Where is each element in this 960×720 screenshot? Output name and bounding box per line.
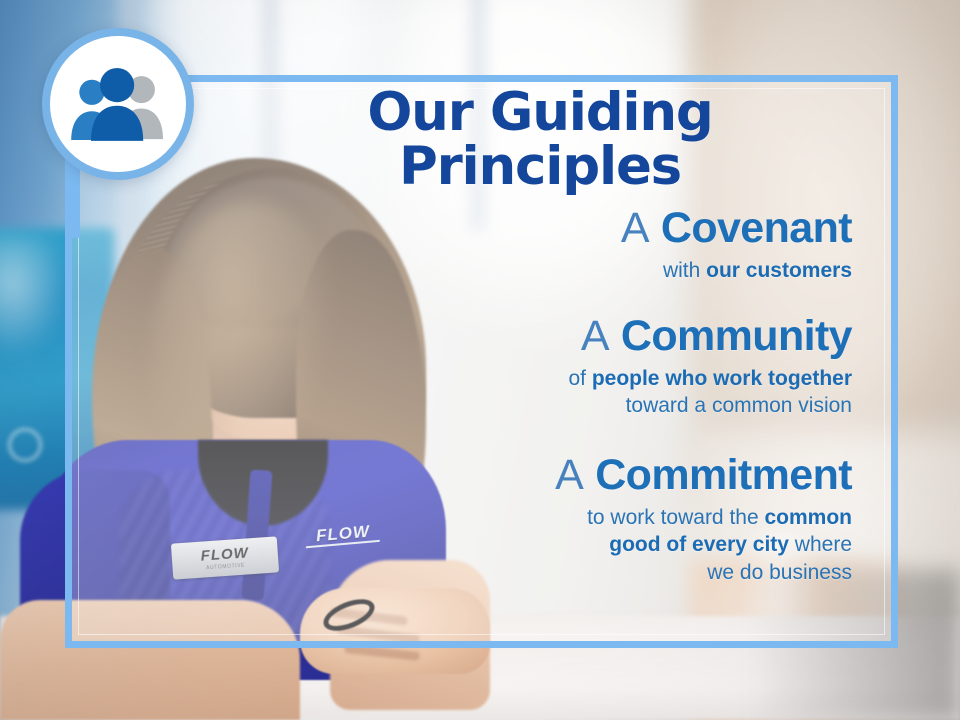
people-group-badge — [42, 28, 194, 180]
people-group-icon — [64, 65, 172, 143]
guiding-principles-graphic: FLOW AUTOMOTIVE FLOW — [0, 0, 960, 720]
